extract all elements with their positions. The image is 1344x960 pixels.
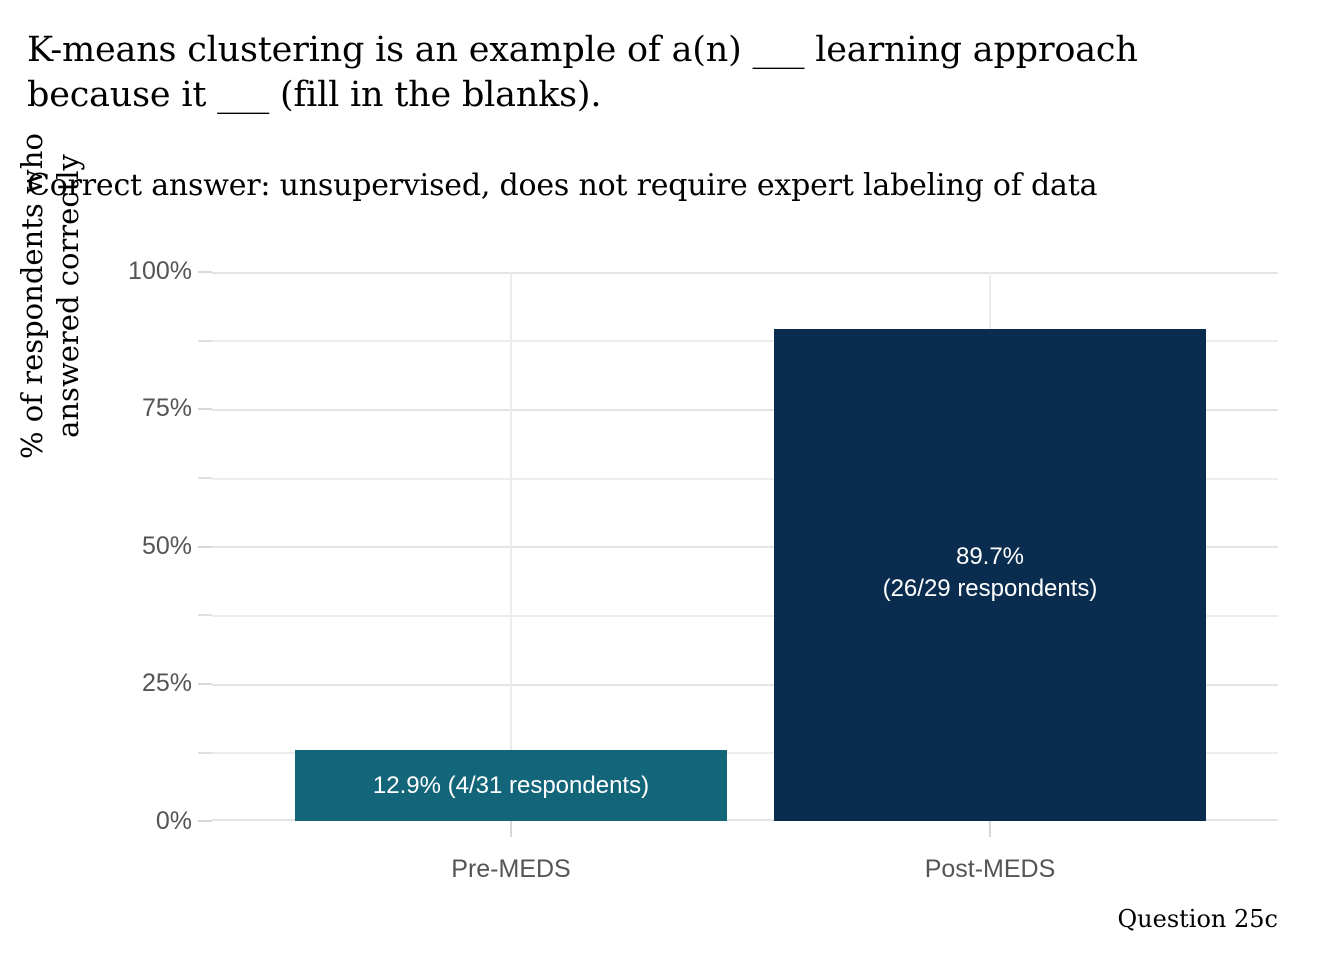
y-tick-mark-25 bbox=[198, 683, 212, 685]
x-tick-mark-post bbox=[989, 821, 991, 837]
y-tick-label-50: 50% bbox=[52, 534, 192, 559]
bar-post-meds[interactable]: 89.7% (26/29 respondents) bbox=[774, 329, 1206, 821]
y-tick-label-100: 100% bbox=[52, 259, 192, 284]
y-tick-mark-12 bbox=[198, 752, 212, 754]
bar-label-post-meds: 89.7% (26/29 respondents) bbox=[774, 541, 1206, 605]
y-tick-mark-0 bbox=[198, 820, 212, 822]
y-tick-label-75: 75% bbox=[52, 396, 192, 421]
y-axis-title: % of respondents who answered correctly bbox=[14, 0, 86, 616]
gridline-100 bbox=[212, 272, 1278, 274]
y-tick-mark-37 bbox=[198, 614, 212, 616]
y-tick-mark-87 bbox=[198, 340, 212, 342]
x-tick-mark-pre bbox=[510, 821, 512, 837]
x-axis-label-post-meds: Post-MEDS bbox=[774, 855, 1206, 884]
vertical-gridline-1 bbox=[510, 272, 512, 821]
y-tick-mark-62 bbox=[198, 477, 212, 479]
bar-label-pre-meds: 12.9% (4/31 respondents) bbox=[295, 770, 727, 802]
plot-area: 12.9% (4/31 respondents) 89.7% (26/29 re… bbox=[212, 272, 1278, 821]
y-tick-mark-100 bbox=[198, 271, 212, 273]
question-number-footer: Question 25c bbox=[1118, 905, 1279, 933]
y-tick-label-0: 0% bbox=[52, 809, 192, 834]
bar-pre-meds[interactable]: 12.9% (4/31 respondents) bbox=[295, 750, 727, 821]
y-tick-label-25: 25% bbox=[52, 671, 192, 696]
y-tick-mark-50 bbox=[198, 546, 212, 548]
x-axis-label-pre-meds: Pre-MEDS bbox=[295, 855, 727, 884]
bar-chart: % of respondents who answered correctly … bbox=[0, 0, 1344, 960]
y-tick-mark-75 bbox=[198, 408, 212, 410]
